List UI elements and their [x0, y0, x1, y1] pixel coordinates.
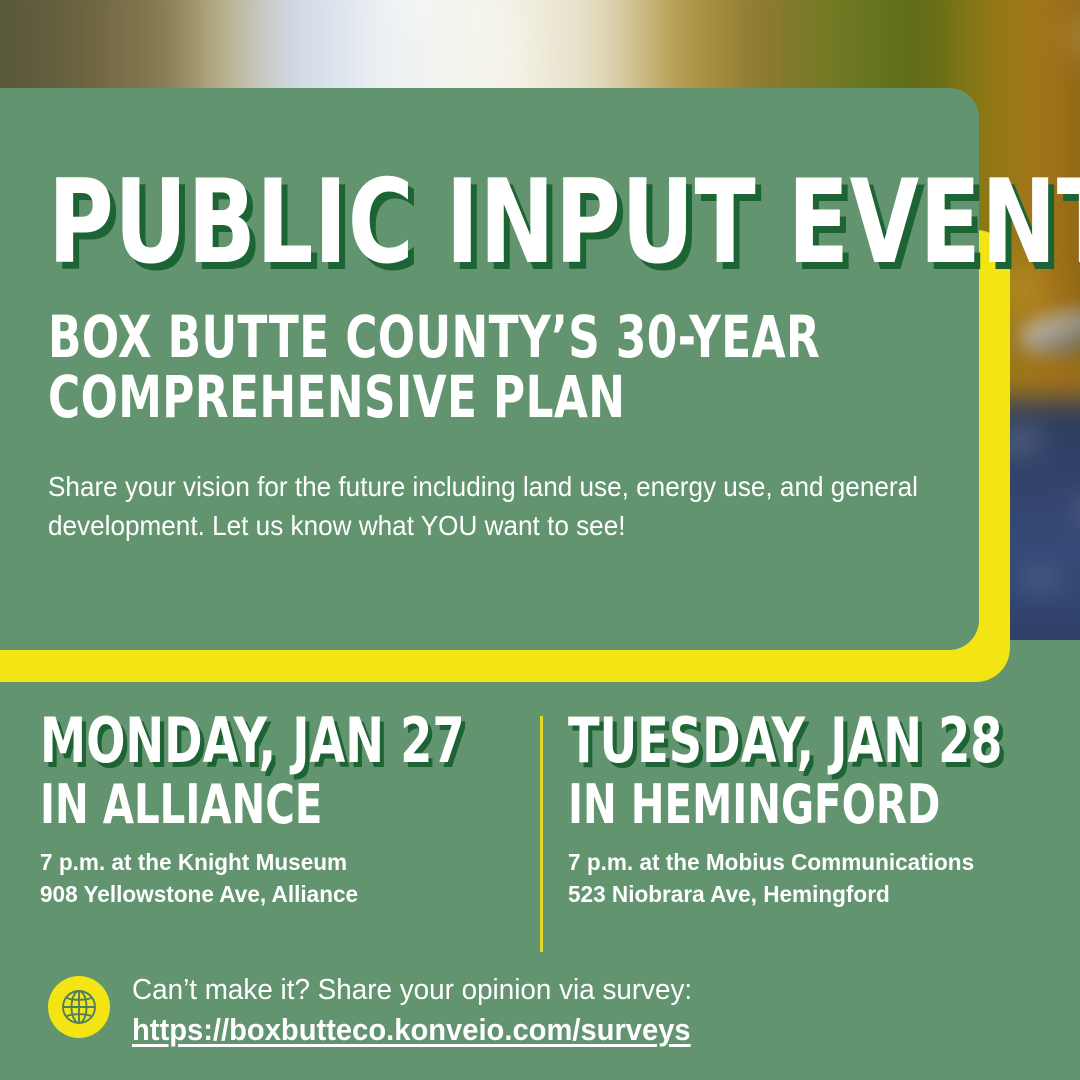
survey-text-block: Can’t make it? Share your opinion via su…: [132, 972, 726, 1049]
event-place: IN HEMINGFORD: [568, 779, 983, 832]
event-column-alliance: MONDAY, JAN 27 IN ALLIANCE 7 p.m. at the…: [40, 712, 526, 911]
event-date: TUESDAY, JAN 28: [568, 712, 983, 771]
events-row: MONDAY, JAN 27 IN ALLIANCE 7 p.m. at the…: [0, 712, 1080, 962]
event-venue: 7 p.m. at the Knight Museum: [40, 846, 507, 878]
event-place: IN ALLIANCE: [40, 779, 443, 832]
intro-blurb: Share your vision for the future includi…: [48, 467, 922, 545]
event-date: MONDAY, JAN 27: [40, 712, 443, 771]
globe-icon: [48, 976, 110, 1038]
page-title: PUBLIC INPUT EVENT: [48, 170, 839, 277]
event-address: 908 Yellowstone Ave, Alliance: [40, 878, 507, 910]
event-column-hemingford: TUESDAY, JAN 28 IN HEMINGFORD 7 p.m. at …: [568, 712, 1068, 911]
headline-block: PUBLIC INPUT EVENT BOX BUTTE COUNTY’S 30…: [48, 170, 968, 545]
poster: PUBLIC INPUT EVENT BOX BUTTE COUNTY’S 30…: [0, 0, 1080, 1080]
survey-url-link[interactable]: https://boxbutteco.konveio.com/surveys: [132, 1011, 691, 1049]
event-venue: 7 p.m. at the Mobius Communications: [568, 846, 1048, 878]
event-address: 523 Niobrara Ave, Hemingford: [568, 878, 1048, 910]
page-subtitle: BOX BUTTE COUNTY’S 30-YEAR COMPREHENSIVE…: [48, 307, 821, 428]
survey-footer: Can’t make it? Share your opinion via su…: [48, 972, 726, 1049]
survey-prompt: Can’t make it? Share your opinion via su…: [132, 972, 703, 1009]
events-divider: [540, 716, 543, 952]
